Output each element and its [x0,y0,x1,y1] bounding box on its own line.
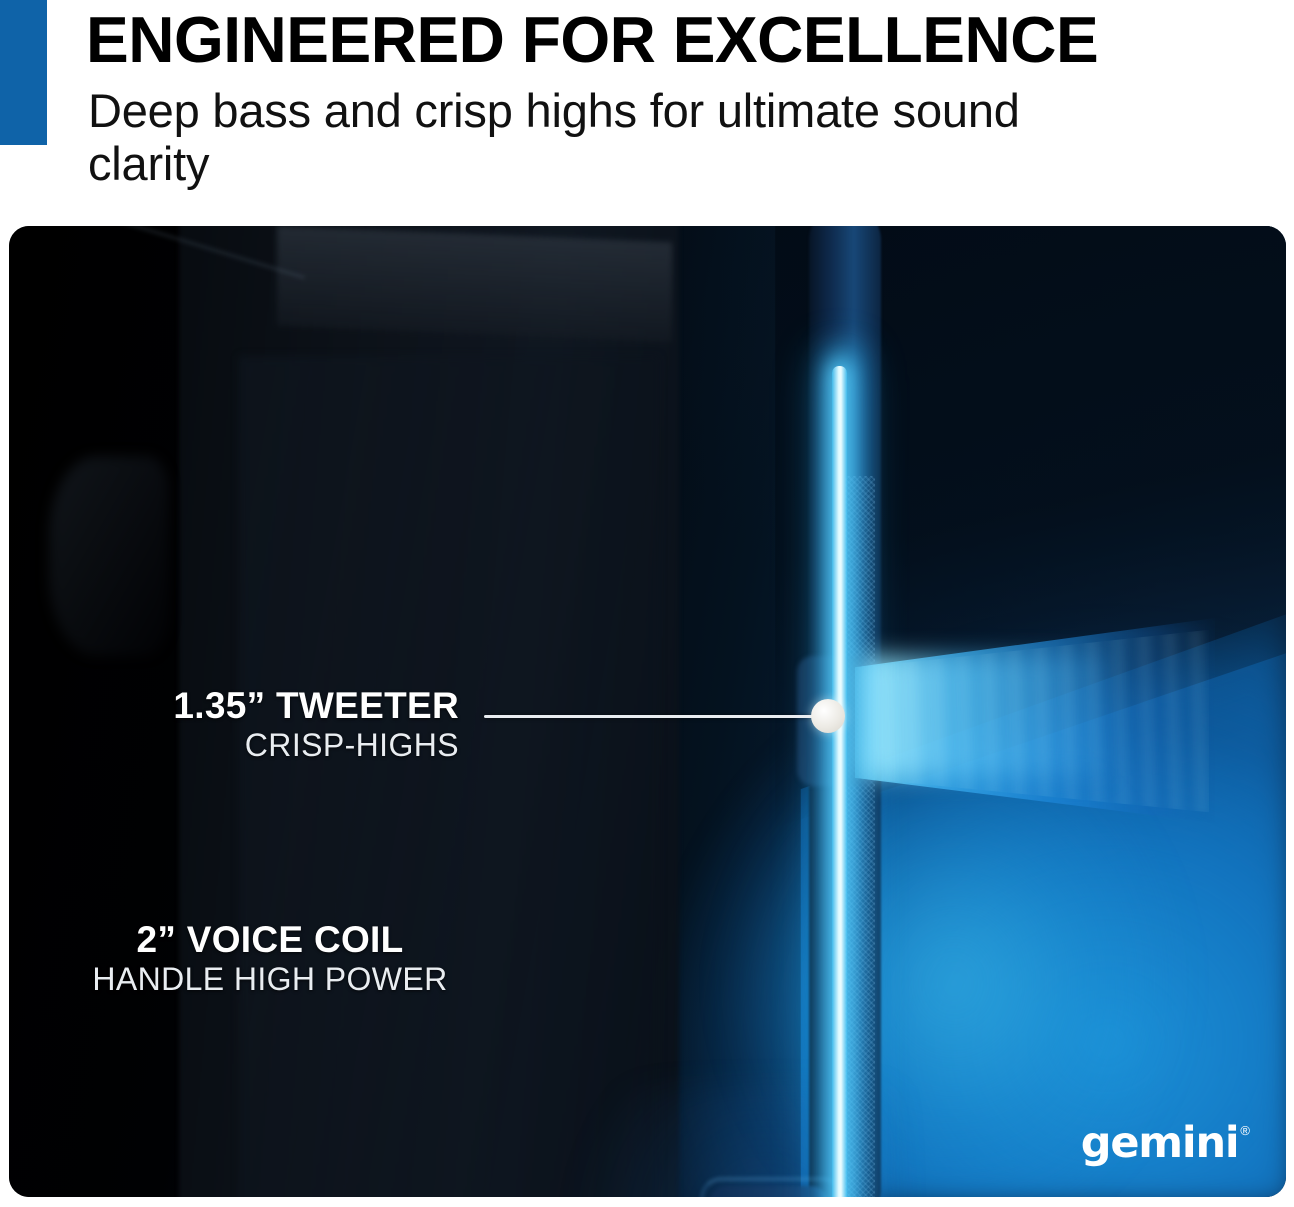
callout-voice-coil: 2” VOICE COIL HANDLE HIGH POWER [79,920,461,998]
accent-bar [0,0,47,145]
callout-voice-coil-sub: HANDLE HIGH POWER [79,960,461,998]
brand-logo: gemini ® [1081,1122,1250,1165]
speaker-cabinet-top-rail [277,226,672,342]
callout-tweeter-title: 1.35” TWEETER [99,686,459,726]
page-subtitle: Deep bass and crisp highs for ultimate s… [88,84,1068,190]
product-photo-panel: 1.35” TWEETER CRISP-HIGHS 2” VOICE COIL … [9,226,1286,1197]
callout-tweeter-sub: CRISP-HIGHS [99,726,459,764]
header: ENGINEERED FOR EXCELLENCE Deep bass and … [0,0,1294,210]
leader-line-tweeter [484,715,832,718]
brand-logo-wordmark: gemini [1081,1122,1239,1165]
callout-tweeter: 1.35” TWEETER CRISP-HIGHS [99,686,459,764]
page-title: ENGINEERED FOR EXCELLENCE [86,4,1098,76]
led-light-strip [832,366,847,1197]
speaker-cabinet-handle [49,456,169,656]
registered-trademark-icon: ® [1240,1124,1250,1138]
speaker-cabinet-front [239,356,659,1197]
callout-voice-coil-title: 2” VOICE COIL [79,920,461,960]
callout-dot-tweeter [811,699,845,733]
